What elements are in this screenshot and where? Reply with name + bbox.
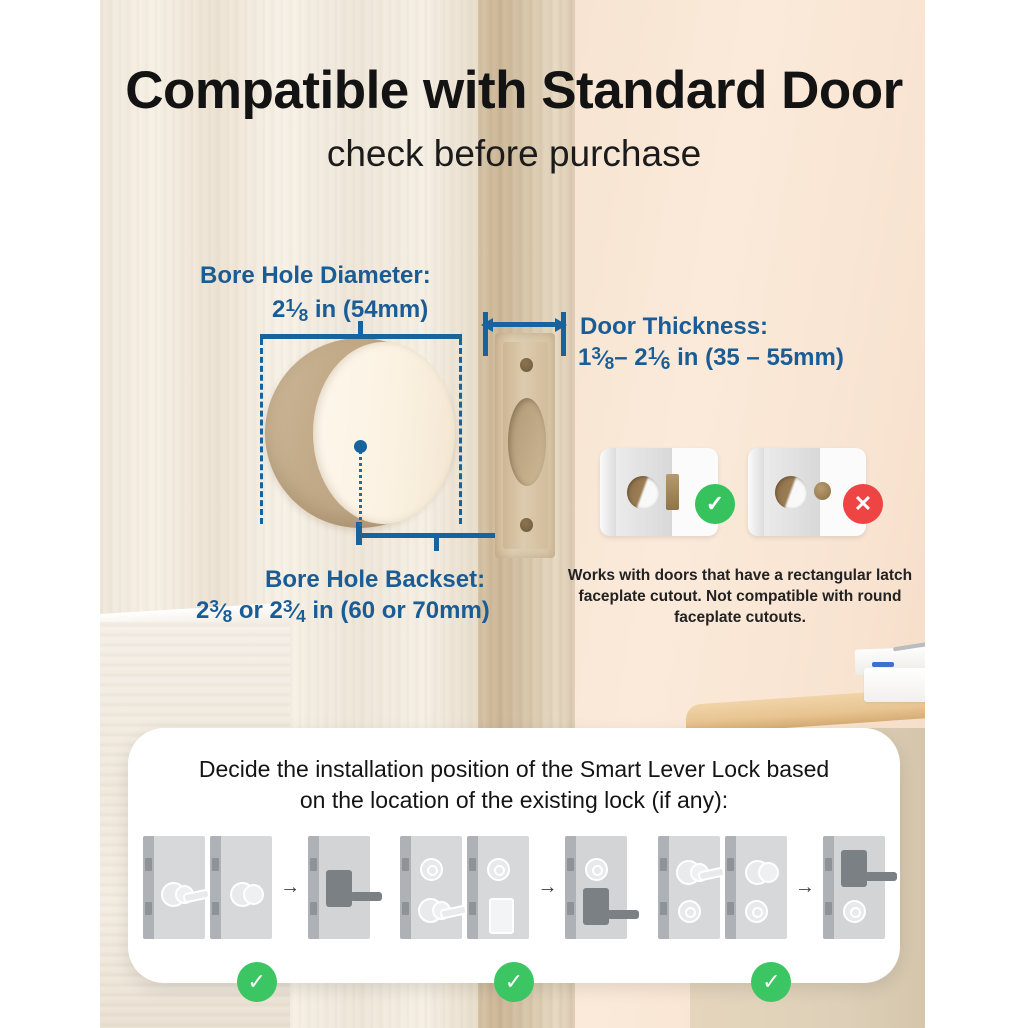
bb-or: or (239, 597, 263, 624)
hinge-icon-bottom (567, 902, 574, 915)
bb-unit: in (60 or 70mm) (312, 597, 489, 624)
bb-b-whole: 2 (270, 597, 283, 624)
deadbolt-icon-5 (745, 900, 768, 923)
card-instruction-text: Decide the installation position of the … (168, 754, 860, 816)
hinge-icon-top (145, 858, 152, 871)
card-line-1: Decide the installation position of the … (199, 756, 829, 782)
nightstand-blue-tag (872, 662, 894, 667)
result-door-1 (308, 836, 370, 939)
bore-diameter-extension-left (260, 339, 263, 524)
arrow-right-icon: → (277, 836, 303, 939)
hinge-strip (210, 836, 221, 939)
bore-diameter-unit: in (54mm) (315, 296, 428, 323)
faceplate-edge (600, 448, 616, 536)
bore-diameter-value: 21⁄8 in (54mm) (272, 296, 428, 324)
deadbolt-icon-2 (487, 858, 510, 881)
hinge-strip (565, 836, 576, 939)
bore-diameter-whole: 2 (272, 296, 285, 323)
hinge-icon-top (660, 858, 667, 871)
hinge-icon-bottom (825, 902, 832, 915)
deadbolt-icon-6 (843, 900, 866, 923)
hinge-strip (725, 836, 736, 939)
knob-ball (758, 862, 779, 883)
dt-low-whole: 1 (578, 344, 591, 371)
card-line-2: on the location of the existing lock (if… (300, 787, 728, 813)
hinge-strip (400, 836, 411, 939)
existing-deadbolt-smart-door (467, 836, 529, 939)
dt-high-whole: 2 (634, 344, 647, 371)
hinge-icon-top (727, 858, 734, 871)
bore-center-extension (359, 446, 362, 526)
deadbolt-icon (420, 858, 443, 881)
hinge-strip (143, 836, 154, 939)
bore-hole-inner-face (313, 342, 455, 524)
bb-a-fraction: 3⁄8 (209, 597, 232, 623)
hinge-strip (658, 836, 669, 939)
knob-ball (243, 884, 264, 905)
bore-backset-label: Bore Hole Backset: (265, 566, 485, 594)
status-badge-not-compatible: ✕ (843, 484, 883, 524)
hinge-icon-top (310, 858, 317, 871)
result-door-3 (823, 836, 885, 939)
group-1-ok-badge: ✓ (237, 962, 277, 1002)
dt-low-fraction: 3⁄8 (591, 344, 614, 370)
bore-diameter-fraction: 1⁄8 (285, 296, 308, 322)
hinge-icon-bottom (469, 902, 476, 915)
door-thickness-label: Door Thickness: (580, 313, 768, 341)
existing-knob-over-deadbolt-door (725, 836, 787, 939)
hinge-icon-top (402, 858, 409, 871)
lock-position-groups: → ✓ (128, 832, 900, 976)
faceplate-bore-icon (627, 476, 659, 509)
group-3-ok-badge: ✓ (751, 962, 791, 1002)
faceplate-note: Works with doors that have a rectangular… (565, 566, 915, 629)
smart-lock-lever (350, 892, 382, 901)
smart-lock-body (583, 888, 609, 925)
smart-keypad-icon (489, 898, 514, 934)
hinge-icon-bottom (212, 902, 219, 915)
lock-group-1: → ✓ (128, 832, 385, 976)
latch-bore-hole (508, 398, 546, 486)
lock-group-3: → ✓ (643, 832, 900, 976)
smart-lock-lever (607, 910, 639, 919)
bore-diameter-extension-right (459, 339, 462, 524)
hinge-icon-top (212, 858, 219, 871)
door-thickness-arrow-left (481, 318, 493, 332)
hinge-icon-bottom (310, 902, 317, 915)
dt-unit: in (35 – 55mm) (677, 344, 844, 371)
group-2-ok-badge: ✓ (494, 962, 534, 1002)
existing-lever-over-deadbolt-door (658, 836, 720, 939)
result-door-2 (565, 836, 627, 939)
latch-screw-top (520, 358, 533, 372)
bore-backset-value: 23⁄8 or 23⁄4 in (60 or 70mm) (196, 597, 490, 625)
hinge-strip (308, 836, 319, 939)
latch-screw-bottom (520, 518, 533, 532)
door-thickness-dim-line (488, 322, 562, 327)
existing-lever-door (143, 836, 205, 939)
hinge-icon-top (469, 858, 476, 871)
arrow-right-icon-3: → (792, 836, 818, 939)
round-cutout-icon (814, 482, 831, 500)
hinge-icon-bottom (145, 902, 152, 915)
hinge-strip (823, 836, 834, 939)
door-thickness-arrow-right (555, 318, 567, 332)
bore-center-point (354, 440, 367, 453)
hinge-strip (467, 836, 478, 939)
existing-knob-door (210, 836, 272, 939)
dt-high-fraction: 1⁄6 (648, 344, 671, 370)
hinge-icon-top (567, 858, 574, 871)
installation-position-card: Decide the installation position of the … (128, 728, 900, 983)
page-subtitle: check before purchase (0, 133, 1028, 175)
hinge-icon-top (825, 858, 832, 871)
deadbolt-icon-4 (678, 900, 701, 923)
bb-a-whole: 2 (196, 597, 209, 624)
existing-deadbolt-lever-door (400, 836, 462, 939)
page-title: Compatible with Standard Door (0, 60, 1028, 121)
bb-b-fraction: 3⁄4 (283, 597, 306, 623)
lock-group-2: → ✓ (385, 832, 642, 976)
smart-lock-body (841, 850, 867, 887)
dt-dash: – (614, 344, 627, 371)
door-thickness-value: 13⁄8– 21⁄6 in (35 – 55mm) (578, 344, 844, 372)
faceplate-bore-icon-2 (775, 476, 807, 509)
rectangular-cutout-icon (666, 474, 679, 510)
arrow-right-icon-2: → (534, 836, 560, 939)
status-badge-ok: ✓ (695, 484, 735, 524)
hinge-icon-bottom (402, 902, 409, 915)
deadbolt-icon-3 (585, 858, 608, 881)
faceplate-edge-2 (748, 448, 764, 536)
hinge-icon-bottom (727, 902, 734, 915)
smart-lock-lever (865, 872, 897, 881)
bore-backset-mid-tick (434, 536, 439, 551)
product-infographic: Compatible with Standard Door check befo… (0, 0, 1028, 1028)
smart-lock-body (326, 870, 352, 907)
bore-diameter-label: Bore Hole Diameter: (200, 262, 431, 290)
hinge-icon-bottom (660, 902, 667, 915)
